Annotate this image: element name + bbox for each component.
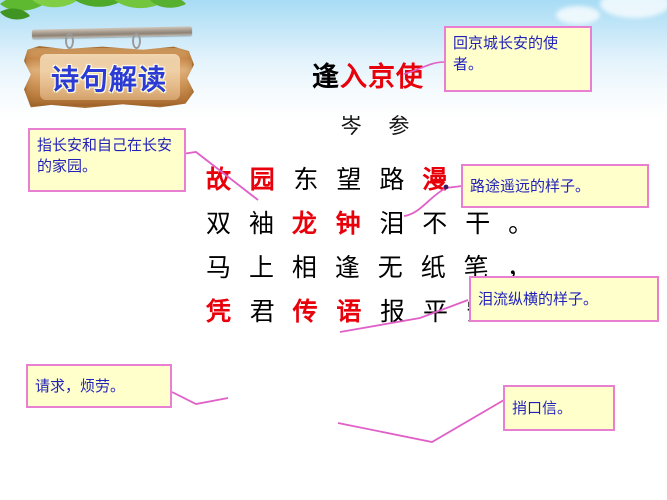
- callout-request: 请求，烦劳。: [26, 364, 172, 408]
- callout-homeland: 指长安和自己在长安的家园。: [28, 128, 186, 192]
- slide-canvas: 诗句解读 逢入京使 岑 参 故 园 东 望 路 漫 漫，双 袖 龙 钟 泪 不 …: [0, 0, 667, 500]
- callout-tears: 泪流纵横的样子。: [469, 276, 659, 322]
- callout-faraway: 路途遥远的样子。: [461, 164, 649, 208]
- callout-message: 捎口信。: [503, 385, 615, 431]
- callout-envoy: 回京城长安的使者。: [444, 26, 592, 92]
